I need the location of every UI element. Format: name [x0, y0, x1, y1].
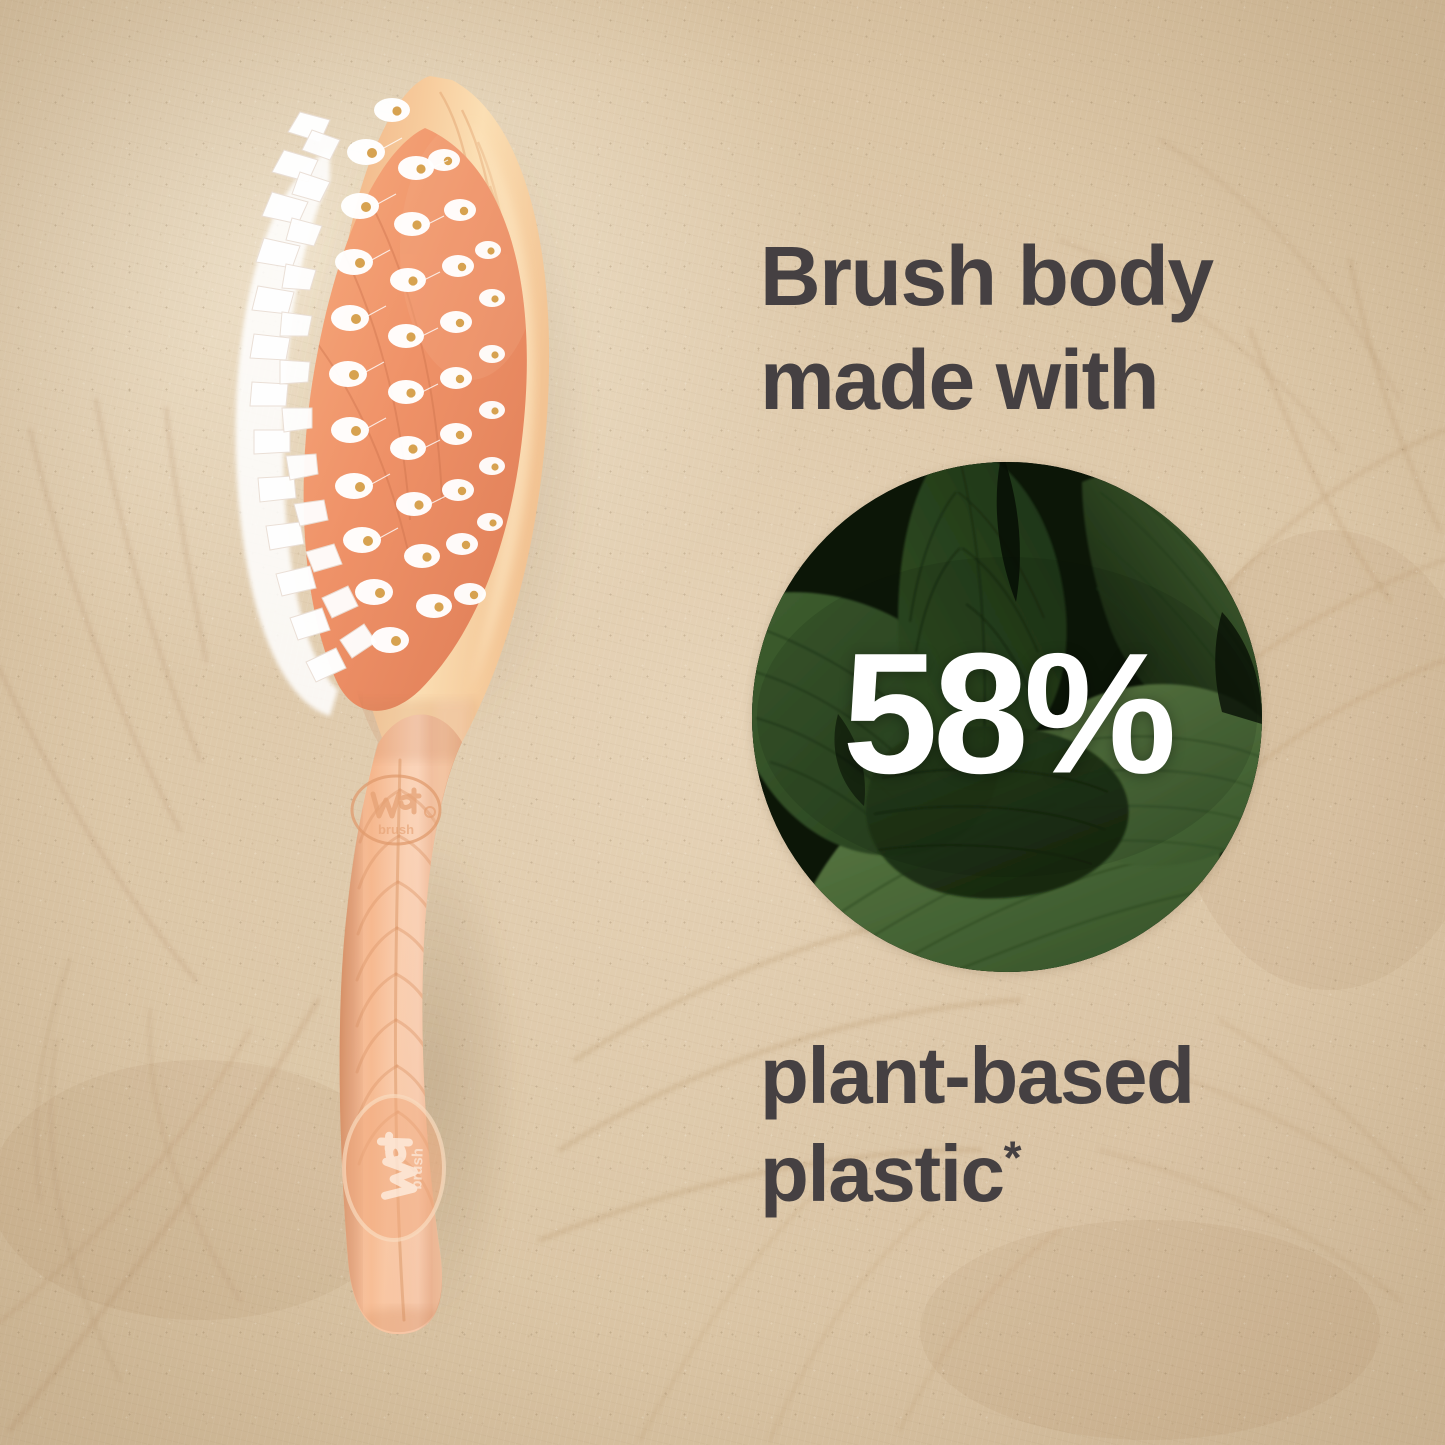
svg-text:brush: brush [378, 822, 414, 837]
percentage-value: 58% [752, 628, 1262, 800]
subhead-line-2-text: plastic [760, 1129, 1004, 1218]
headline-line-2: made with [760, 338, 1158, 422]
subhead-line-1: plant-based [760, 1036, 1194, 1116]
svg-text:brush: brush [408, 1148, 426, 1190]
product-marketing-image: brush brush [0, 0, 1445, 1445]
subhead-line-2: plastic* [760, 1134, 1022, 1214]
plant-based-percentage-badge: 58% [752, 462, 1262, 972]
brand-logo-lower: brush [344, 1096, 444, 1240]
footnote-asterisk: * [1004, 1131, 1022, 1183]
headline-line-1: Brush body [760, 234, 1213, 318]
